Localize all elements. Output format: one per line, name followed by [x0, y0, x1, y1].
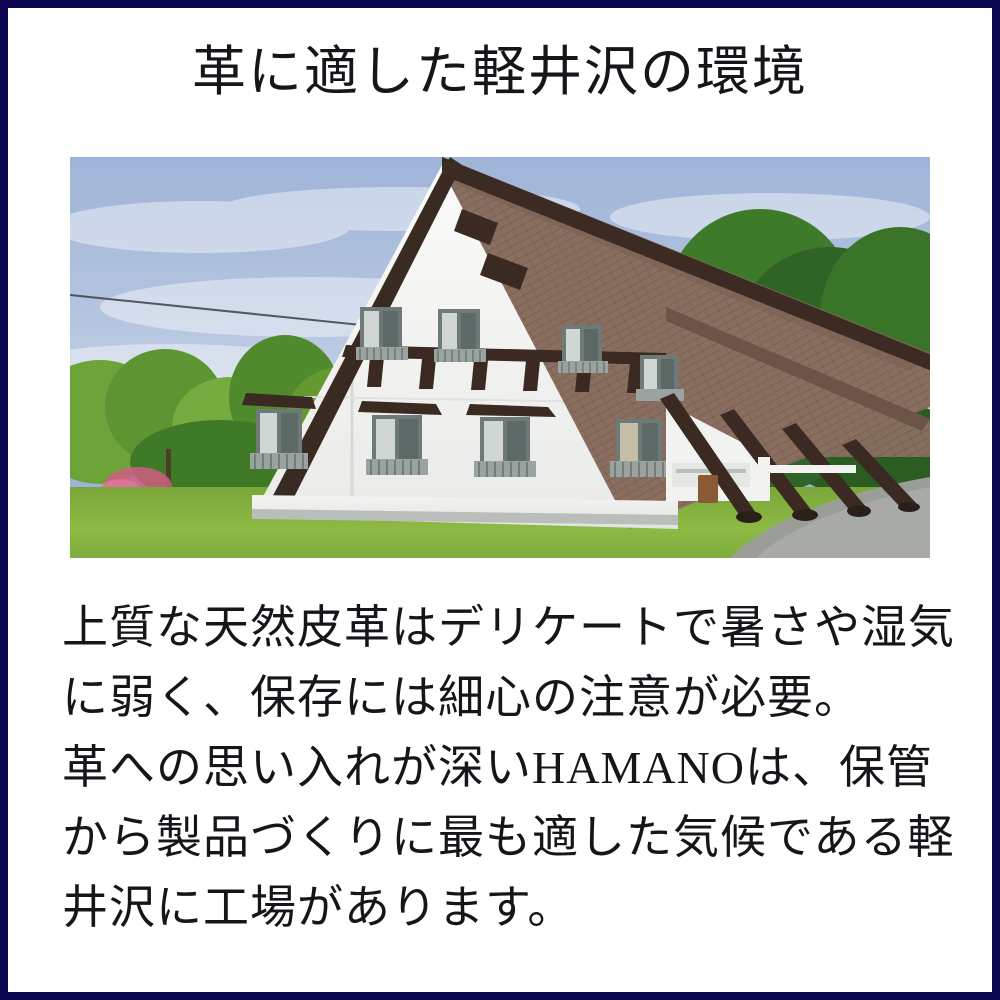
body-line: に弱く、保存には細心の注意が必要。 [62, 663, 942, 733]
body-line: 上質な天然皮革はデリケートで暑さや湿気 [62, 593, 942, 663]
body-line: 井沢に工場があります。 [62, 873, 942, 943]
body-line: 革への思い入れが深いHAMANOは、保管 [62, 733, 942, 803]
photo-illustration [70, 157, 930, 558]
body-line: から製品づくりに最も適した気候である軽 [62, 803, 942, 873]
body-copy: 上質な天然皮革はデリケートで暑さや湿気 に弱く、保存には細心の注意が必要。 革へ… [62, 593, 942, 943]
page-title: 革に適した軽井沢の環境 [8, 40, 992, 105]
karuizawa-factory-photo [70, 157, 930, 558]
page-container: 革に適した軽井沢の環境 [0, 0, 1000, 1000]
